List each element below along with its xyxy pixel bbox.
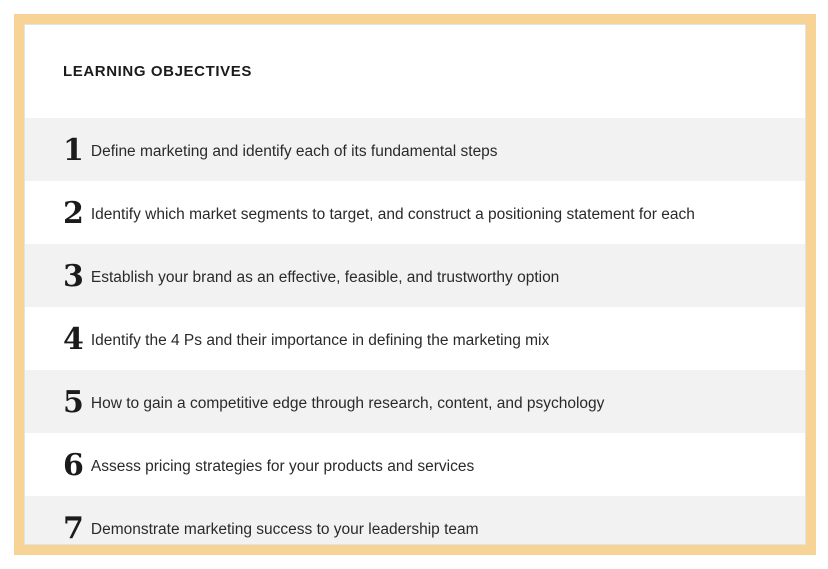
list-item: 6 Assess pricing strategies for your pro… (25, 433, 805, 496)
objective-number: 4 (63, 325, 84, 355)
objective-text: Identify which market segments to target… (91, 206, 695, 225)
list-item: 4 Identify the 4 Ps and their importance… (25, 307, 805, 370)
page-title: LEARNING OBJECTIVES (63, 64, 252, 79)
list-item: 5 How to gain a competitive edge through… (25, 370, 805, 433)
objective-number: 5 (63, 388, 84, 418)
list-item: 3 Establish your brand as an effective, … (25, 244, 805, 307)
card-inner-panel: LEARNING OBJECTIVES 1 Define marketing a… (24, 24, 806, 545)
objective-text: Define marketing and identify each of it… (91, 143, 498, 162)
objective-text: How to gain a competitive edge through r… (91, 395, 605, 414)
objective-text: Demonstrate marketing success to your le… (91, 521, 479, 540)
list-item: 1 Define marketing and identify each of … (25, 118, 805, 181)
card-header: LEARNING OBJECTIVES (25, 25, 805, 118)
objective-number: 3 (63, 262, 84, 292)
objective-number: 7 (63, 514, 84, 544)
objective-number: 1 (63, 136, 84, 166)
objective-number: 2 (63, 199, 84, 229)
objective-text: Assess pricing strategies for your produ… (91, 458, 474, 477)
list-item: 7 Demonstrate marketing success to your … (25, 496, 805, 545)
list-item: 2 Identify which market segments to targ… (25, 181, 805, 244)
objective-text: Establish your brand as an effective, fe… (91, 269, 559, 288)
objective-number: 6 (63, 451, 84, 481)
objective-text: Identify the 4 Ps and their importance i… (91, 332, 549, 351)
learning-objectives-card: LEARNING OBJECTIVES 1 Define marketing a… (14, 14, 816, 555)
